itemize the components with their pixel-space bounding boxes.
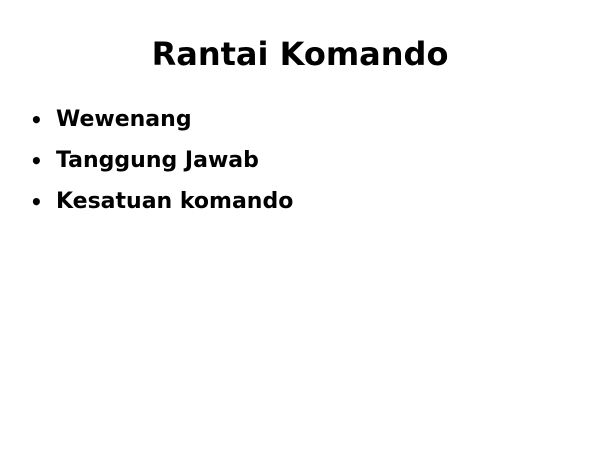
- bullet-icon: •: [30, 149, 56, 173]
- page-title: Rantai Komando: [0, 34, 600, 74]
- list-item: • Kesatuan komando: [30, 190, 570, 214]
- list-item: • Tanggung Jawab: [30, 149, 570, 173]
- list-item-label: Tanggung Jawab: [56, 149, 259, 173]
- bullet-icon: •: [30, 190, 56, 214]
- presentation-slide: Rantai Komando • Wewenang • Tanggung Jaw…: [0, 0, 600, 450]
- bullet-icon: •: [30, 108, 56, 132]
- bullet-list: • Wewenang • Tanggung Jawab • Kesatuan k…: [30, 108, 570, 231]
- list-item-label: Kesatuan komando: [56, 190, 293, 214]
- list-item: • Wewenang: [30, 108, 570, 132]
- list-item-label: Wewenang: [56, 108, 192, 132]
